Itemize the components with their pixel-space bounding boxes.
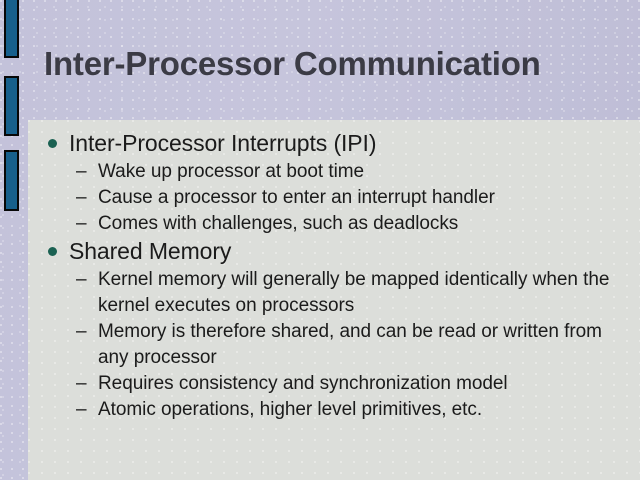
bullet-text: Atomic operations, higher level primitiv… (98, 397, 482, 423)
bullet-text: Inter-Processor Interrupts (IPI) (69, 129, 376, 158)
bullet-text: Cause a processor to enter an interrupt … (98, 185, 495, 211)
bullet-dash-icon: – (76, 185, 98, 211)
accent-bar-1 (4, 0, 19, 58)
bullet-item-level2: – Wake up processor at boot time (28, 159, 640, 185)
slide-content-panel: Inter-Processor Interrupts (IPI) – Wake … (28, 120, 640, 480)
bullet-dash-icon: – (76, 397, 98, 423)
bullet-item-level2: – Comes with challenges, such as deadloc… (28, 211, 640, 237)
bullet-item-level2: – Atomic operations, higher level primit… (28, 397, 640, 423)
bullet-dot-icon (48, 237, 69, 266)
bullet-list: Inter-Processor Interrupts (IPI) – Wake … (28, 120, 640, 423)
bullet-dash-icon: – (76, 159, 98, 185)
bullet-item-level1: Shared Memory (28, 237, 640, 266)
accent-bar-3 (4, 150, 19, 211)
bullet-dash-icon: – (76, 319, 98, 345)
bullet-item-level2: – Kernel memory will generally be mapped… (28, 267, 640, 319)
bullet-dash-icon: – (76, 371, 98, 397)
slide-title: Inter-Processor Communication (44, 44, 620, 84)
accent-bar-2 (4, 76, 19, 136)
bullet-text: Memory is therefore shared, and can be r… (98, 319, 618, 371)
bullet-text: Wake up processor at boot time (98, 159, 364, 185)
bullet-text: Requires consistency and synchronization… (98, 371, 508, 397)
presentation-slide: Inter-Processor Communication Inter-Proc… (0, 0, 640, 480)
bullet-item-level2: – Requires consistency and synchronizati… (28, 371, 640, 397)
bullet-item-level2: – Cause a processor to enter an interrup… (28, 185, 640, 211)
bullet-dash-icon: – (76, 211, 98, 237)
bullet-text: Shared Memory (69, 237, 231, 266)
bullet-item-level1: Inter-Processor Interrupts (IPI) (28, 129, 640, 158)
bullet-dot-icon (48, 129, 69, 158)
bullet-dash-icon: – (76, 267, 98, 293)
bullet-text: Comes with challenges, such as deadlocks (98, 211, 458, 237)
bullet-text: Kernel memory will generally be mapped i… (98, 267, 618, 319)
bullet-item-level2: – Memory is therefore shared, and can be… (28, 319, 640, 371)
